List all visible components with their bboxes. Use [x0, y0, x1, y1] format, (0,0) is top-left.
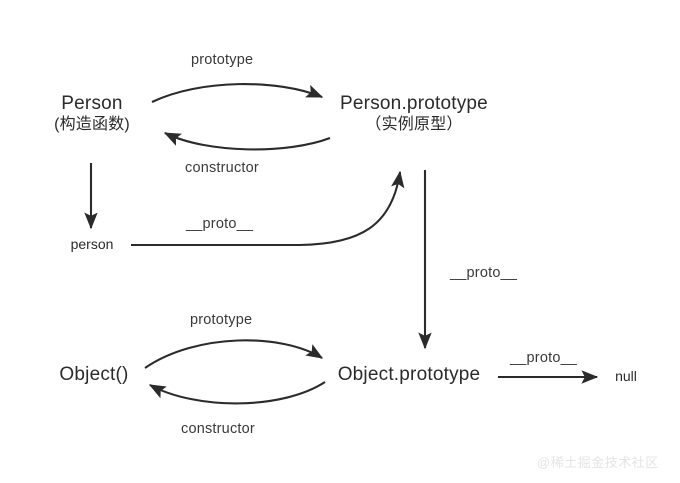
- edge-label-object-prototype: prototype: [190, 312, 252, 328]
- edge-label-person-proto: __proto__: [186, 216, 253, 232]
- node-person-constructor-label: Person: [28, 92, 156, 115]
- edge-person-proto: [131, 172, 400, 245]
- node-person-prototype[interactable]: Person.prototype （实例原型）: [322, 92, 506, 135]
- node-null-label: null: [604, 368, 648, 385]
- edge-label-person-prototype: prototype: [191, 52, 253, 68]
- node-person-prototype-sublabel: （实例原型）: [322, 115, 506, 135]
- edge-label-objectproto-null: __proto__: [510, 350, 577, 366]
- edge-label-personproto-proto: __proto__: [450, 265, 517, 281]
- node-null[interactable]: null: [604, 368, 648, 385]
- edge-person-prototype: [152, 84, 322, 102]
- node-object-prototype[interactable]: Object.prototype: [320, 363, 498, 386]
- node-object-constructor[interactable]: Object(): [44, 363, 144, 386]
- node-person-constructor-sublabel: (构造函数): [28, 115, 156, 135]
- edge-person-constructor: [165, 133, 330, 149]
- node-person-constructor[interactable]: Person (构造函数): [28, 92, 156, 135]
- watermark: @稀土掘金技术社区: [537, 452, 659, 471]
- node-person-instance[interactable]: person: [56, 236, 128, 253]
- edge-object-prototype: [145, 340, 322, 368]
- edge-label-object-constructor: constructor: [181, 421, 255, 437]
- diagram-canvas: Person (构造函数) Person.prototype （实例原型） pe…: [0, 0, 680, 483]
- node-person-instance-label: person: [56, 236, 128, 253]
- node-object-constructor-label: Object(): [44, 363, 144, 386]
- node-object-prototype-label: Object.prototype: [320, 363, 498, 386]
- node-person-prototype-label: Person.prototype: [322, 92, 506, 115]
- edge-label-person-constructor: constructor: [185, 160, 259, 176]
- edge-object-constructor: [150, 382, 325, 403]
